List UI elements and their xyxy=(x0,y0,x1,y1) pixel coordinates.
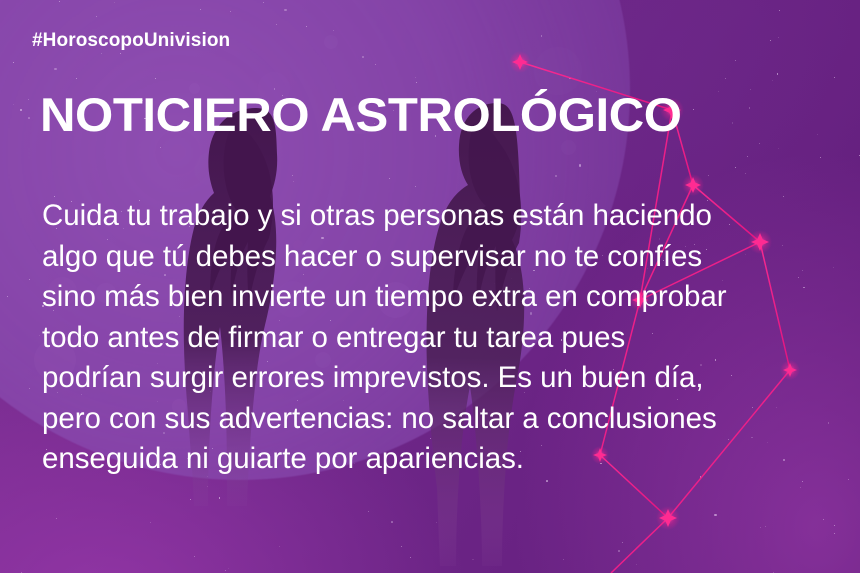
horoscope-body-text: Cuida tu trabajo y si otras personas est… xyxy=(42,196,842,480)
text-content: #HoroscopoUnivision NOTICIERO ASTROLÓGIC… xyxy=(0,0,860,573)
body-line: algo que tú debes hacer o supervisar no … xyxy=(42,237,842,278)
horoscope-card: #HoroscopoUnivision NOTICIERO ASTROLÓGIC… xyxy=(0,0,860,573)
body-line: podrían surgir errores imprevistos. Es u… xyxy=(42,358,842,399)
body-line: Cuida tu trabajo y si otras personas est… xyxy=(42,196,842,237)
body-line: todo antes de firmar o entregar tu tarea… xyxy=(42,318,842,359)
page-title: NOTICIERO ASTROLÓGICO xyxy=(40,91,682,139)
body-line: pero con sus advertencias: no saltar a c… xyxy=(42,399,842,440)
body-line: enseguida ni guiarte por apariencias. xyxy=(42,439,842,480)
hashtag-label: #HoroscopoUnivision xyxy=(32,30,230,52)
body-line: sino más bien invierte un tiempo extra e… xyxy=(42,277,842,318)
